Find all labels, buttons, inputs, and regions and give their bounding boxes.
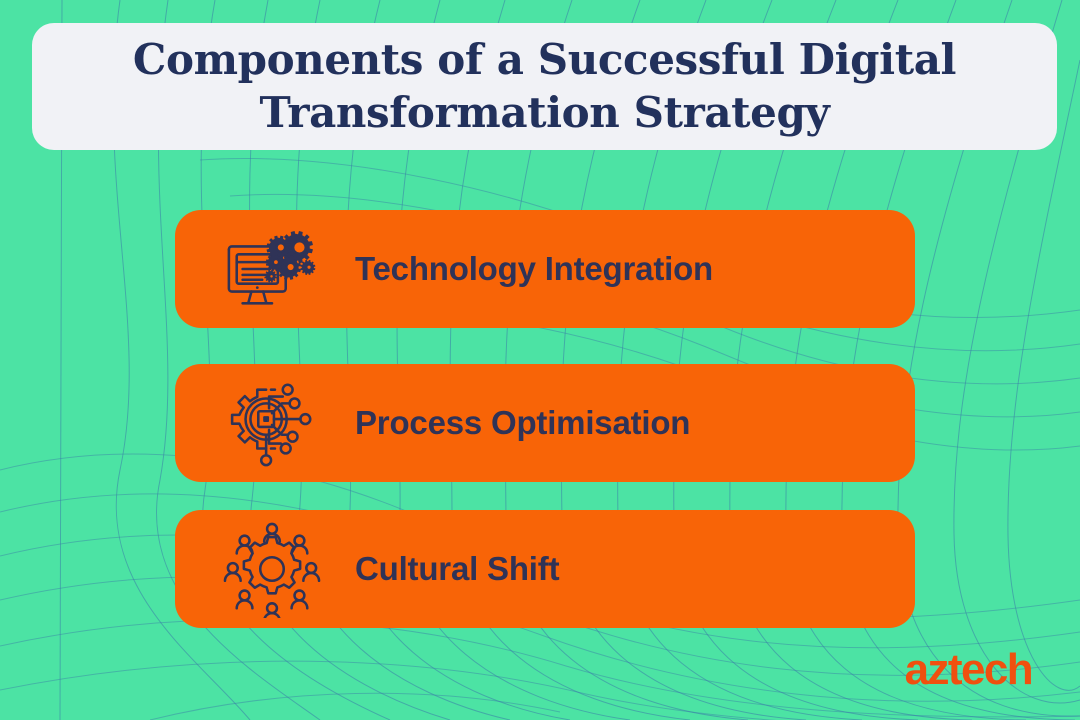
infographic-canvas: Components of a Successful Digital Trans… <box>0 0 1080 720</box>
gear-people-network-icon <box>217 519 327 619</box>
card-label: Technology Integration <box>355 250 713 288</box>
page-title: Components of a Successful Digital Trans… <box>55 34 1035 139</box>
component-card-process-optimisation[interactable]: Process Optimisation <box>175 364 915 482</box>
gear-circuit-chip-icon <box>217 373 327 473</box>
card-label: Cultural Shift <box>355 550 559 588</box>
title-panel: Components of a Successful Digital Trans… <box>32 23 1057 150</box>
monitor-gears-icon <box>217 219 327 319</box>
card-label: Process Optimisation <box>355 404 690 442</box>
component-card-cultural-shift[interactable]: Cultural Shift <box>175 510 915 628</box>
aztech-logo: aztech <box>905 648 1032 692</box>
component-card-technology-integration[interactable]: Technology Integration <box>175 210 915 328</box>
